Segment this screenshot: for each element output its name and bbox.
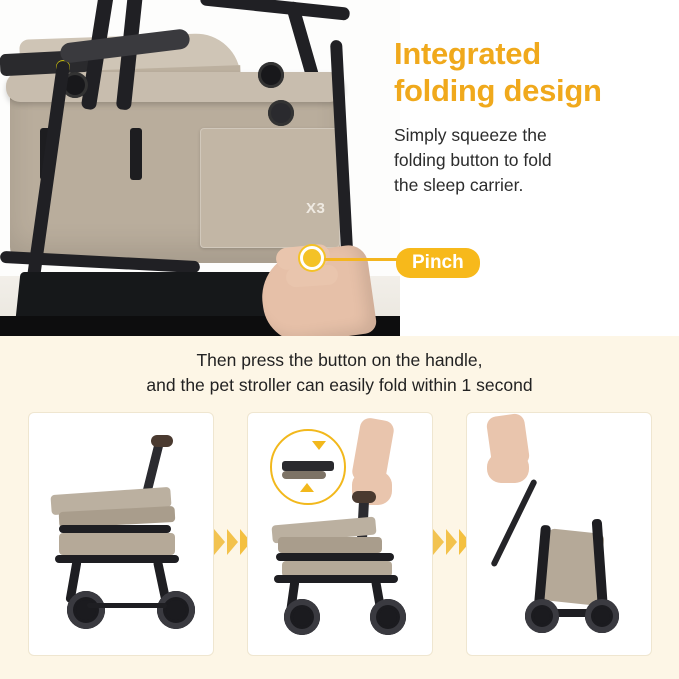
step-thumbnails bbox=[0, 412, 679, 662]
headline-title: Integrated folding design bbox=[394, 36, 660, 109]
arrow-up-icon bbox=[300, 483, 314, 492]
seat-cushion bbox=[59, 533, 175, 555]
headline-line-2: folding design bbox=[394, 73, 602, 108]
headline-body: Simply squeeze the folding button to fol… bbox=[394, 123, 660, 198]
caption-line-1: Then press the button on the handle, bbox=[196, 350, 482, 370]
pinch-label-badge: Pinch bbox=[396, 248, 480, 278]
frame-bar-top bbox=[200, 0, 351, 21]
step-1-drawing bbox=[29, 413, 213, 655]
chevron-right-icon bbox=[214, 529, 225, 555]
bottom-caption: Then press the button on the handle, and… bbox=[0, 348, 679, 398]
product-logo: X3 bbox=[306, 200, 325, 217]
handle-post-extended bbox=[490, 479, 537, 568]
arrow-down-icon bbox=[312, 441, 326, 459]
step-3-drawing bbox=[467, 413, 651, 655]
chevron-right-icon bbox=[433, 529, 444, 555]
pinch-callout-line bbox=[324, 258, 402, 261]
body-line-1: Simply squeeze the bbox=[394, 125, 547, 145]
chevron-right-icon bbox=[227, 529, 238, 555]
callout-frame-detail bbox=[282, 471, 326, 479]
seat-frame-bar bbox=[276, 553, 394, 561]
hub-knob-right bbox=[258, 62, 284, 88]
rear-wheel bbox=[370, 599, 406, 635]
rear-wheel bbox=[585, 599, 619, 633]
pinch-button-marker-icon bbox=[300, 246, 324, 270]
handle-grip-thumb bbox=[151, 435, 173, 447]
carrier-photo: X3 bbox=[0, 0, 400, 336]
product-infographic: X3 Pinch Integrated folding design bbox=[0, 0, 679, 679]
caption-line-2: and the pet stroller can easily fold wit… bbox=[146, 375, 532, 395]
callout-handle-detail bbox=[282, 461, 334, 471]
front-wheel bbox=[67, 591, 105, 629]
hub-knob-lower-right bbox=[268, 100, 294, 126]
step-3-folded-stroller bbox=[466, 412, 652, 656]
seat-fold-layer bbox=[278, 537, 382, 553]
step-1-upright-stroller bbox=[28, 412, 214, 656]
front-wheel bbox=[284, 599, 320, 635]
headline-line-1: Integrated bbox=[394, 36, 541, 71]
bottom-panel: Then press the button on the handle, and… bbox=[0, 336, 679, 679]
step-2-folding-stroller bbox=[247, 412, 433, 656]
body-line-3: the sleep carrier. bbox=[394, 175, 523, 195]
handle-grip-thumb bbox=[352, 491, 376, 503]
carrier-strap-middle bbox=[130, 128, 142, 180]
headline-block: Integrated folding design Simply squeeze… bbox=[394, 36, 660, 198]
axle-bar bbox=[87, 603, 167, 608]
rear-wheel bbox=[157, 591, 195, 629]
hand-gripping-handle bbox=[487, 453, 529, 483]
chevron-right-icon bbox=[446, 529, 457, 555]
front-wheel bbox=[525, 599, 559, 633]
body-line-2: folding button to fold bbox=[394, 150, 552, 170]
top-panel: X3 Pinch Integrated folding design bbox=[0, 0, 679, 336]
step-2-drawing bbox=[248, 413, 432, 655]
carrier-pocket bbox=[200, 128, 340, 248]
seat-frame-bar bbox=[59, 525, 171, 533]
